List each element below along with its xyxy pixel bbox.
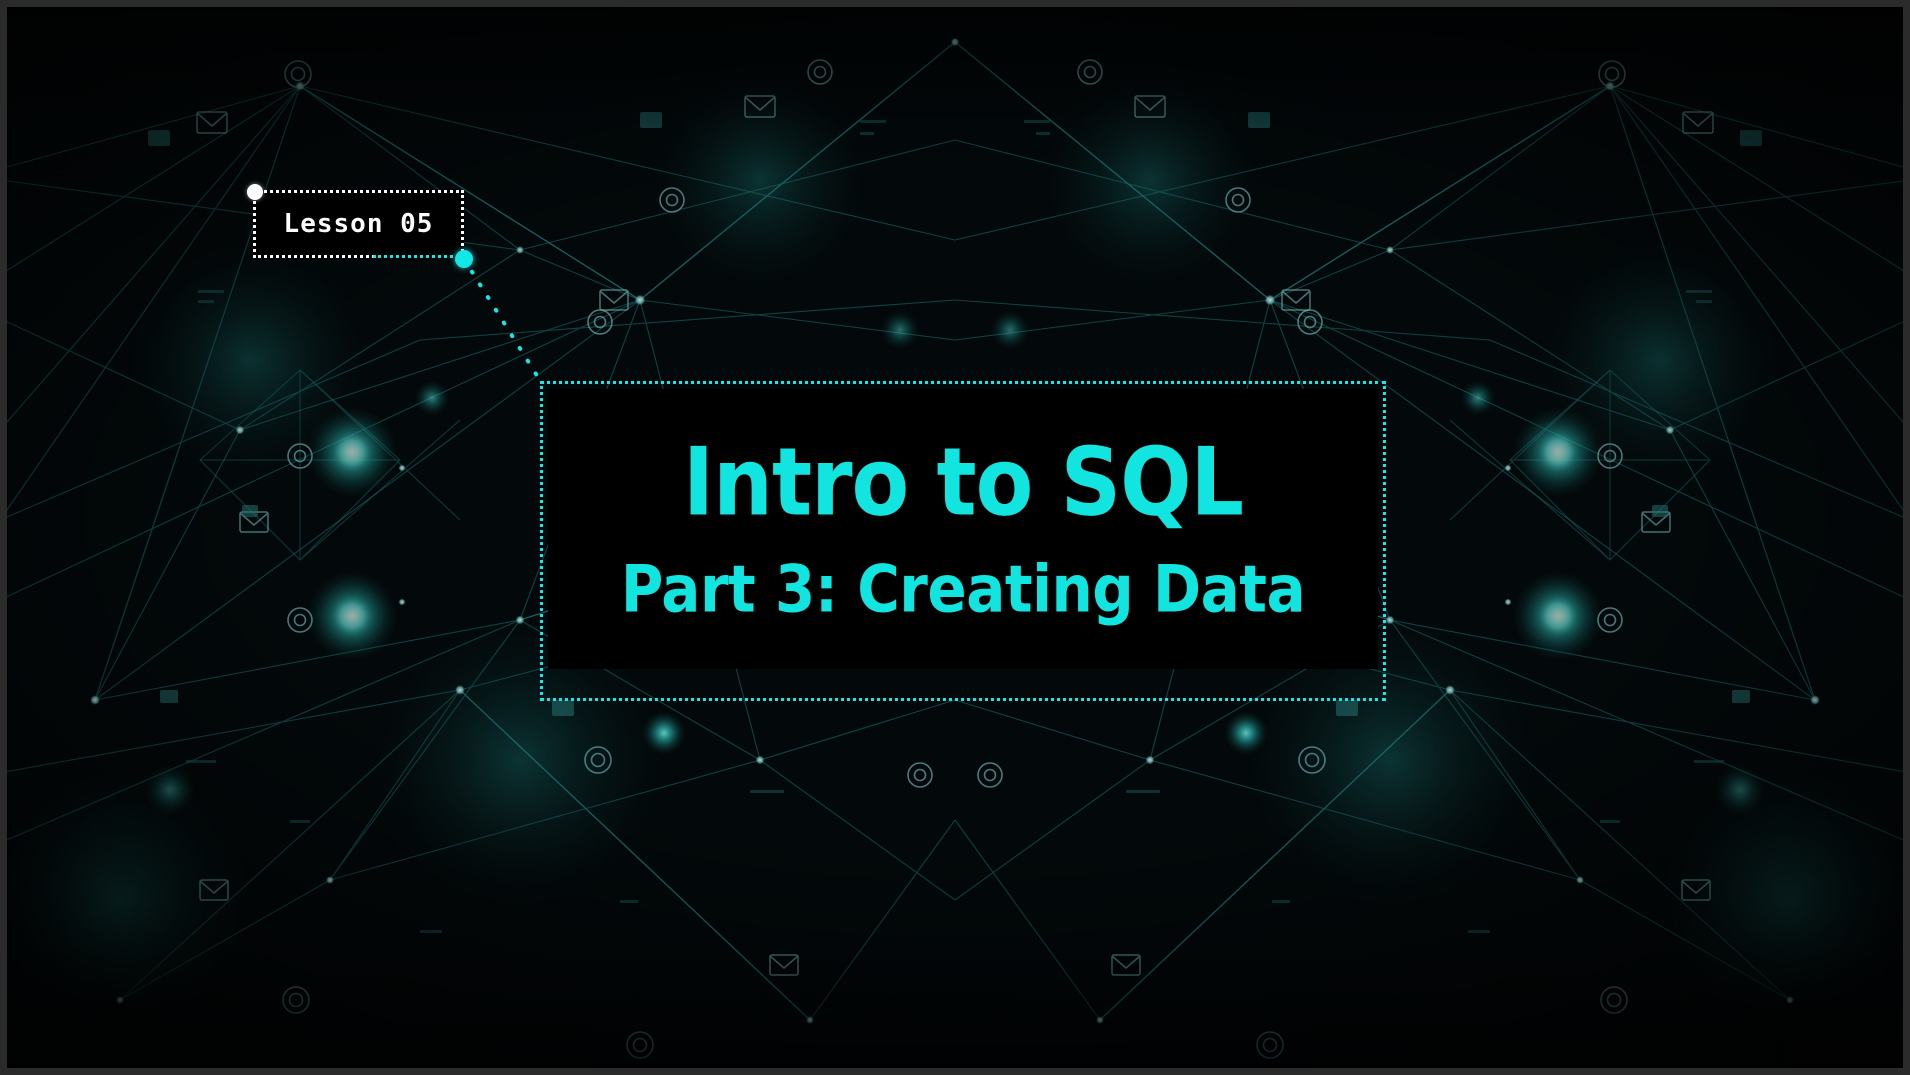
slide-subtitle: Part 3: Creating Data [621, 557, 1305, 622]
lesson-badge-cyan-edge [373, 255, 465, 258]
lesson-badge-handle-bottom-right[interactable] [455, 250, 473, 268]
slide-canvas: Lesson 05 Intro to SQL Part 3: Creating … [0, 0, 1910, 1075]
lesson-badge-label: Lesson 05 [284, 209, 434, 239]
lesson-badge[interactable]: Lesson 05 [253, 190, 464, 258]
lesson-badge-handle-top-left[interactable] [247, 184, 263, 200]
slide-title: Intro to SQL [683, 435, 1243, 529]
title-card-content: Intro to SQL Part 3: Creating Data [548, 389, 1378, 669]
